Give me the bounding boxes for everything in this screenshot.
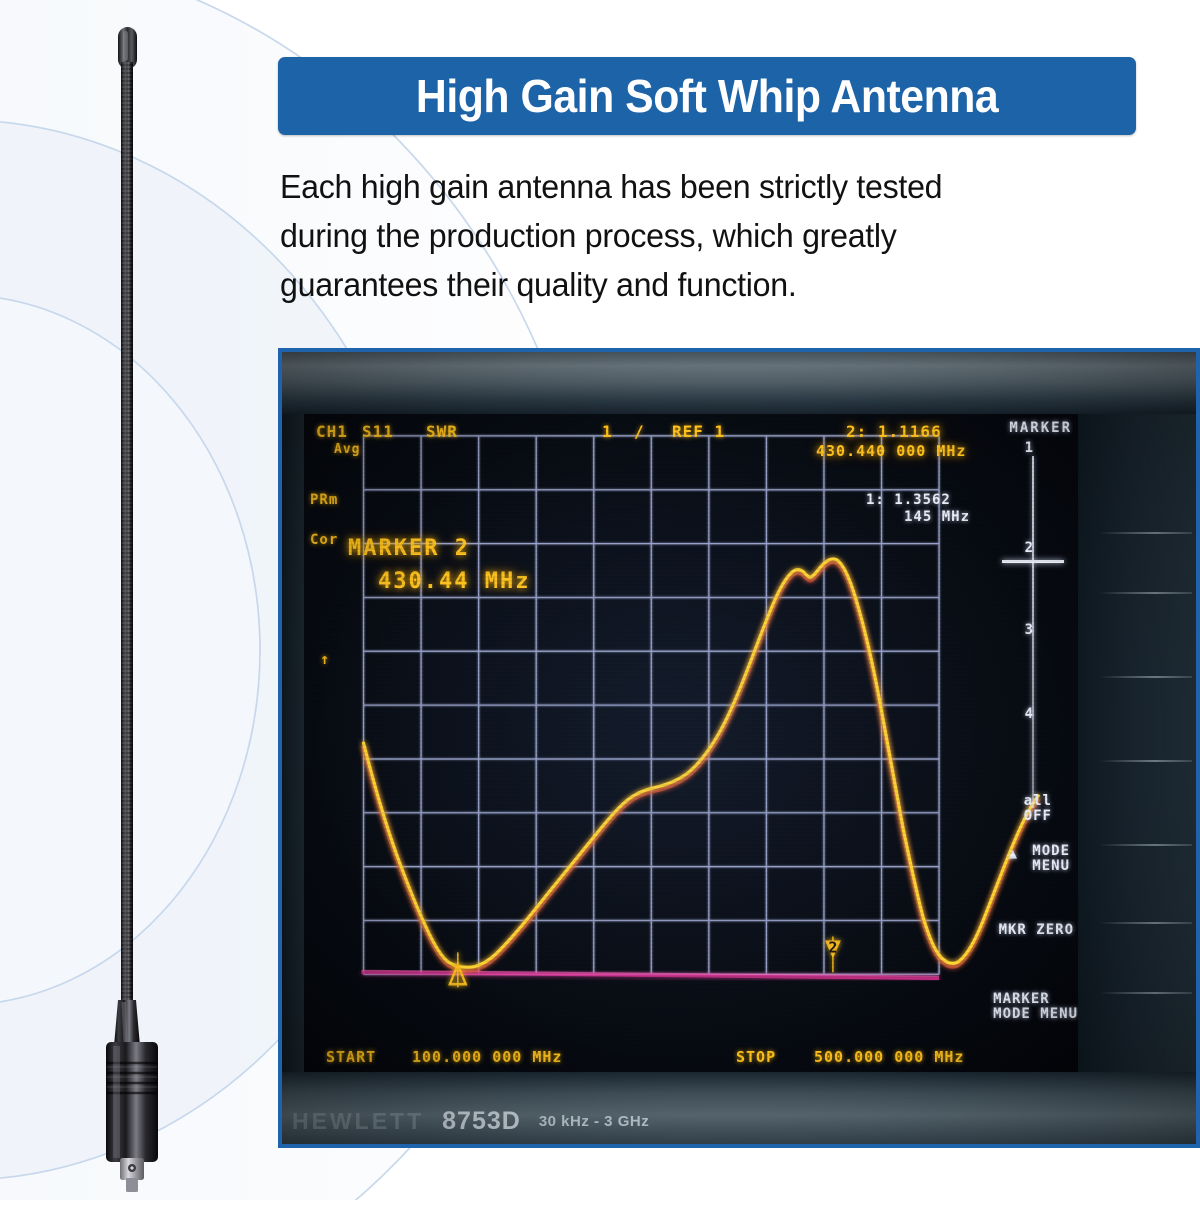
page-title-banner: High Gain Soft Whip Antenna [278, 57, 1136, 135]
status-scale-per-div: 1 [602, 422, 613, 441]
label-prm: PRm [310, 492, 338, 508]
marker-2-frequency: 430.440 000 MHz [816, 442, 966, 460]
sma-connector [120, 1158, 144, 1192]
axis-stop-value: 500.000 000 MHz [814, 1048, 964, 1066]
marker-1-value: 1: 1.3562 [866, 492, 951, 508]
page-title: High Gain Soft Whip Antenna [416, 69, 998, 123]
axis-start-label: START [326, 1048, 376, 1066]
instrument-bottom-bezel: HEWLETT 8753D 30 kHz - 3 GHz [282, 1072, 1196, 1144]
product-photo [0, 0, 270, 1200]
vna-instrument-photo: 2 CH1 S11 SWR 1 / REF 1 2: 1.1166 430.44… [278, 348, 1200, 1148]
instrument-frequency-range: 30 kHz - 3 GHz [539, 1113, 649, 1130]
description-paragraph: Each high gain antenna has been strictly… [280, 163, 1170, 310]
mode-menu-up-arrow-icon: ▲ [1009, 846, 1018, 862]
softkey-marker-1[interactable]: 1 [1025, 440, 1034, 456]
brand-name: HEWLETT [292, 1108, 424, 1135]
instrument-right-softkey-bezel [1078, 414, 1196, 1072]
active-entry-arrow: ↑ [320, 650, 330, 668]
softkey-all-off[interactable]: all OFF [1024, 794, 1052, 824]
axis-start-value: 100.000 000 MHz [412, 1048, 562, 1066]
softkey-ladder-line [1032, 456, 1034, 808]
instrument-top-bezel [282, 352, 1196, 414]
svg-text:2: 2 [828, 938, 837, 956]
vna-crt-display: 2 CH1 S11 SWR 1 / REF 1 2: 1.1166 430.44… [304, 414, 1078, 1072]
antenna-neck [114, 1000, 140, 1046]
description-line-1: Each high gain antenna has been strictly… [280, 163, 1134, 212]
softkey-mode-menu[interactable]: MODE MENU [1032, 844, 1070, 874]
status-channel: CH1 [316, 422, 348, 441]
label-avg: Avg [334, 442, 360, 457]
axis-stop-label: STOP [736, 1048, 776, 1066]
marker-1-frequency: 145 MHz [904, 509, 970, 525]
marker-callout-frequency: 430.44 MHz [378, 569, 530, 594]
softkey-heading-marker[interactable]: MARKER [1009, 420, 1072, 436]
description-line-2: during the production process, which gre… [280, 212, 1134, 261]
label-cor: Cor [310, 532, 338, 548]
description-line-3: guarantees their quality and function. [280, 261, 1134, 310]
marker-2-value: 2: 1.1166 [846, 422, 942, 441]
status-parameter: S11 [362, 422, 394, 441]
softkey-marker-mode-menu[interactable]: MARKER MODE MENU [993, 992, 1078, 1022]
swr-trace-ghost [364, 562, 1039, 971]
marker-2-indicator: 2 [825, 936, 841, 972]
antenna-base-connector [106, 1042, 158, 1162]
instrument-left-bezel [282, 414, 304, 1072]
status-slash: / [634, 422, 645, 441]
marker-callout-title: MARKER 2 [348, 536, 470, 561]
status-reference: REF 1 [672, 422, 725, 441]
status-format: SWR [426, 422, 458, 441]
antenna-whip-shaft [121, 62, 133, 1012]
softkey-mkr-zero[interactable]: MKR ZERO [999, 922, 1074, 938]
instrument-model: 8753D [442, 1107, 521, 1136]
